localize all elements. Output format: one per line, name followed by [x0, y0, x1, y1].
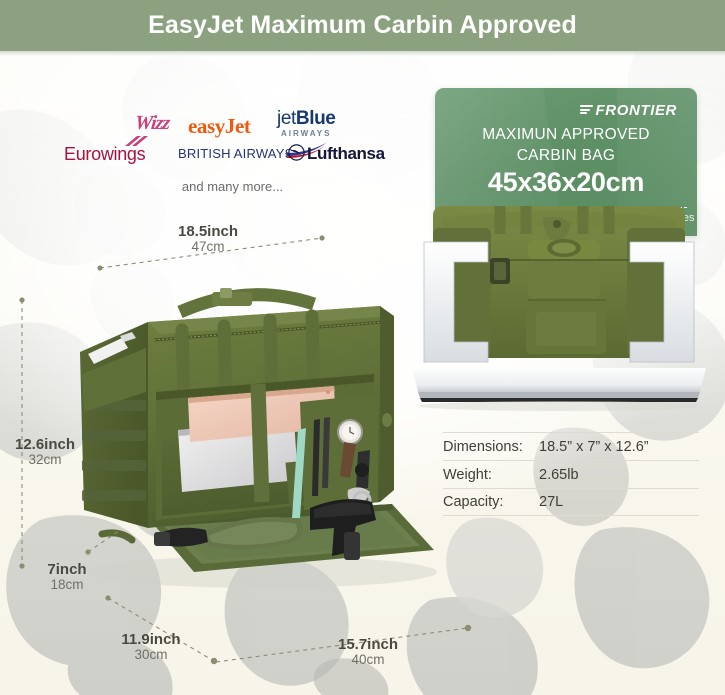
lufthansa-crane-icon: [288, 144, 305, 161]
table-row: Capacity: 27L: [443, 488, 699, 516]
dimension-base-side-inch: 15.7inch: [320, 637, 416, 653]
dimension-depth-inch: 7inch: [32, 562, 102, 578]
sign-line-2: CARBIN BAG: [435, 147, 697, 165]
dimension-height-inch: 12.6inch: [2, 437, 88, 453]
spec-key: Weight:: [443, 467, 539, 483]
dimension-base-front-inch: 11.9inch: [103, 632, 199, 648]
logo-jetblue-subtext: AIRWAYS: [277, 129, 335, 138]
dimension-label-width: 18.5inch 47cm: [160, 224, 256, 255]
dimension-base-side-cm: 40cm: [320, 653, 416, 668]
spec-key: Dimensions:: [443, 439, 539, 455]
table-row: Dimensions: 18.5” x 7” x 12.6”: [443, 432, 699, 460]
dimension-label-depth: 7inch 18cm: [32, 562, 102, 593]
infographic-page: EasyJet Maximum Carbin Approved Wizz eas…: [0, 0, 725, 695]
spec-value: 2.65lb: [539, 467, 579, 483]
table-row: Weight: 2.65lb: [443, 460, 699, 488]
dimension-width-inch: 18.5inch: [160, 224, 256, 240]
logo-wizz-air: Wizz: [135, 112, 169, 135]
logo-jetblue-text-light: jet: [277, 108, 296, 129]
specifications-table: Dimensions: 18.5” x 7” x 12.6” Weight: 2…: [443, 432, 699, 516]
logo-eurowings: Eurowings: [64, 144, 145, 165]
logo-easyjet-text: easyJet: [188, 114, 251, 139]
logo-lufthansa-text: Lufthansa: [307, 144, 385, 164]
dimension-depth-cm: 18cm: [32, 578, 102, 593]
logo-jetblue: jetBlue AIRWAYS: [277, 109, 335, 138]
dimension-label-base-side: 15.7inch 40cm: [320, 637, 416, 668]
spec-key: Capacity:: [443, 494, 539, 510]
frontier-speed-bars-icon: [580, 105, 593, 116]
logo-jetblue-text: jetBlue: [277, 109, 335, 128]
frontier-brand-logo: FRONTIER: [580, 102, 677, 119]
airline-logo-group: Wizz easyJet jetBlue AIRWAYS Eurowings B…: [55, 104, 410, 200]
spec-value: 27L: [539, 494, 563, 510]
dimension-height-cm: 32cm: [2, 453, 88, 468]
dimension-label-height: 12.6inch 32cm: [2, 437, 88, 468]
frontier-brand-text: FRONTIER: [596, 102, 677, 119]
logo-british-airways: BRITISH AIRWAYS: [178, 146, 293, 161]
dimension-width-cm: 47cm: [160, 240, 256, 255]
product-photo-in-sizer: [408, 200, 710, 412]
spec-value: 18.5” x 7” x 12.6”: [539, 439, 649, 455]
logo-wizz-text: Wizz: [134, 112, 171, 135]
logo-lufthansa: Lufthansa: [307, 144, 385, 164]
dimension-base-front-cm: 30cm: [103, 648, 199, 663]
header-banner: EasyJet Maximum Carbin Approved: [0, 0, 725, 51]
logo-british-airways-text: BRITISH AIRWAYS: [178, 146, 293, 161]
header-shadow: [0, 51, 725, 56]
sign-dimension-text: 45x36x20cm: [435, 167, 697, 198]
dimension-label-base-front: 11.9inch 30cm: [103, 632, 199, 663]
logo-easyjet: easyJet: [188, 114, 251, 139]
logo-jetblue-text-bold: Blue: [296, 108, 336, 129]
page-title: EasyJet Maximum Carbin Approved: [148, 11, 577, 40]
product-photo-main-bag: [62, 252, 447, 597]
many-more-label: and many more...: [55, 179, 410, 194]
logo-eurowings-text: Eurowings: [64, 144, 145, 165]
sign-line-1: MAXIMUN APPROVED: [435, 126, 697, 144]
